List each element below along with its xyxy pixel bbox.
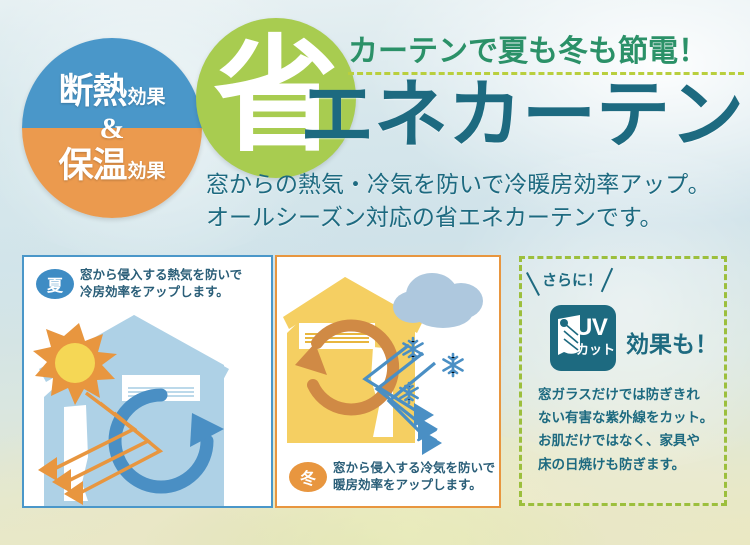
uv-description-line-2: ない有害な紫外線をカット。: [538, 406, 726, 429]
kicker-slash-right-icon: [601, 268, 613, 293]
winter-badge: 冬: [289, 462, 327, 492]
header-subtitle: 窓からの熱気・冷気を防いで冷暖房効率アップ。 オールシーズン対応の省エネカーテン…: [206, 168, 711, 233]
badge-text-group: 断熱 効果 & 保温 効果: [22, 38, 202, 218]
badge-insulation-sub: 効果: [128, 88, 166, 107]
cold-ray-lines: [365, 345, 435, 443]
sun-icon: [33, 323, 117, 405]
cloud-icon: [393, 273, 483, 328]
winter-caption-line-1: 窓から侵入する冷気を防いで: [333, 460, 495, 477]
uv-effect-text: 効果も！: [626, 325, 718, 359]
uv-description: 窓ガラスだけでは防ぎきれ ない有害な紫外線をカット。 お肌だけではなく、家具や …: [538, 383, 726, 476]
uv-cut-label: カット: [576, 343, 615, 356]
uv-label: UV: [575, 316, 607, 340]
summer-caption-line-2: 冷房効率をアップします。: [80, 284, 242, 301]
cold-ray-arrowheads: [414, 403, 442, 455]
badge-ampersand: &: [100, 114, 125, 144]
insulation-warmth-badge: 断熱 効果 & 保温 効果: [22, 38, 202, 218]
snowflake-icons: [400, 338, 462, 445]
winter-air-conditioner-icon: [299, 323, 375, 349]
air-circulation-arrow: [115, 395, 224, 487]
summer-caption-line-1: 窓から侵入する熱気を防いで: [80, 267, 242, 284]
winter-curtain-shape: [371, 347, 393, 437]
uv-description-line-1: 窓ガラスだけでは防ぎきれ: [538, 383, 726, 406]
uv-description-line-3: お肌だけではなく、家具や: [538, 429, 726, 452]
energy-saving-curtain-banner: 断熱 効果 & 保温 効果 省 カーテンで夏も冬も節電！ エネカーテン 窓からの…: [0, 0, 750, 545]
badge-warmth-row: 保温 効果: [58, 148, 165, 183]
badge-warmth-sub: 効果: [128, 162, 166, 181]
heat-ray-lines: [54, 393, 160, 493]
badge-insulation-main: 断熱: [58, 74, 126, 109]
subtitle-line-2: オールシーズン対応の省エネカーテンです。: [206, 201, 711, 234]
heat-ray-arrowheads: [38, 457, 83, 505]
uv-description-line-4: 床の日焼けも防ぎます。: [538, 453, 726, 476]
winter-caption: 窓から侵入する冷気を防いで 暖房効率をアップします。: [333, 460, 495, 495]
summer-house-icon: [39, 315, 229, 506]
badge-warmth-main: 保温: [58, 148, 126, 183]
winter-panel: 冬 窓から侵入する冷気を防いで 暖房効率をアップします。: [275, 255, 501, 508]
winter-caption-line-2: 暖房効率をアップします。: [333, 477, 495, 494]
curtain-shape: [64, 405, 88, 501]
summer-caption: 窓から侵入する熱気を防いで 冷房効率をアップします。: [80, 267, 242, 302]
air-conditioner-icon: [122, 375, 200, 401]
page-title: エネカーテン: [300, 78, 744, 152]
summer-panel: 夏 窓から侵入する熱気を防いで 冷房効率をアップします。: [22, 255, 273, 508]
kicker-slash-left-icon: [526, 272, 540, 296]
warm-air-circulation-arrow: [295, 325, 393, 409]
subtitle-line-1: 窓からの熱気・冷気を防いで冷暖房効率アップ。: [206, 168, 711, 201]
badge-insulation-row: 断熱 効果: [58, 74, 165, 109]
winter-house-icon: [283, 277, 423, 443]
uv-cut-box: さらに！ UV カット 効果も！ 窓ガラスだけでは防ぎきれ ない有害な紫外線をカ…: [519, 256, 727, 506]
uv-cut-icon: UV カット: [550, 305, 616, 371]
summer-badge: 夏: [36, 269, 74, 299]
header-tagline: カーテンで夏も冬も節電！: [348, 26, 708, 70]
uv-kicker: さらに！: [542, 269, 602, 290]
